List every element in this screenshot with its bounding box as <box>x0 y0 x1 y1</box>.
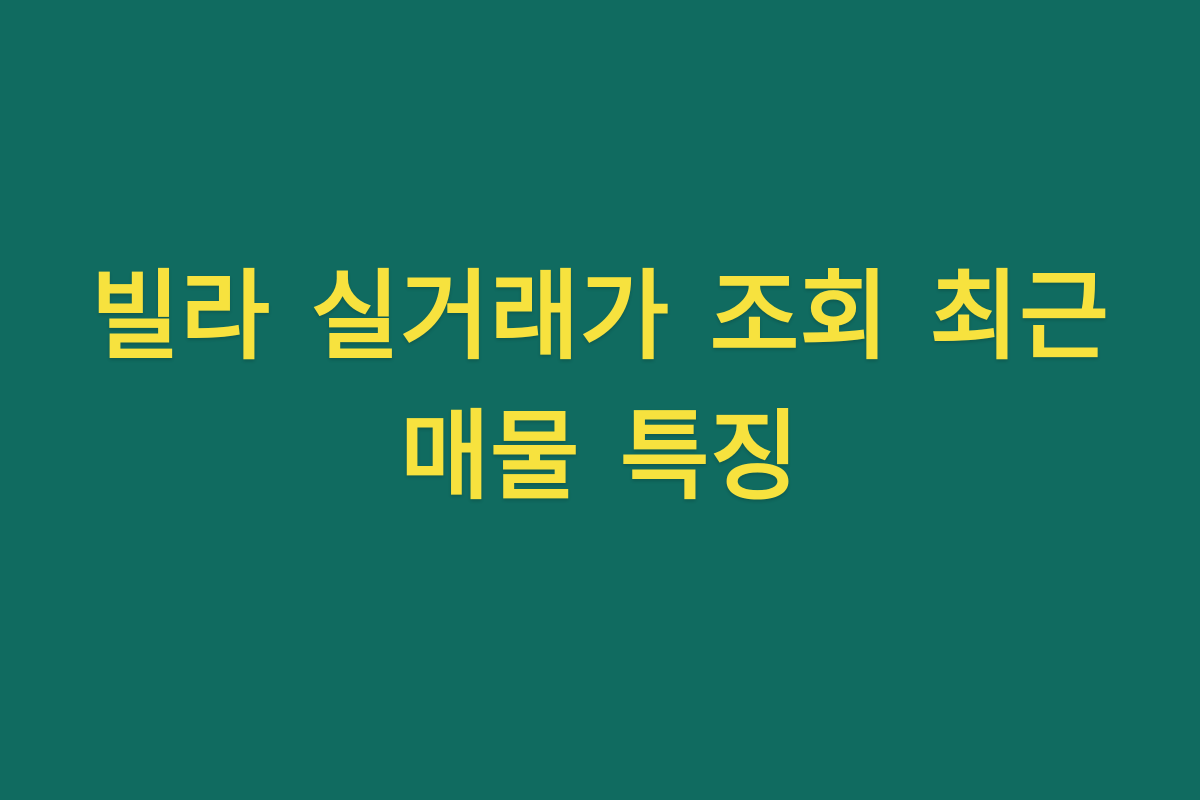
title-line-2: 매물 특징 <box>50 387 1150 527</box>
thumbnail-canvas: 빌라 실거래가 조회 최근 매물 특징 <box>0 0 1200 800</box>
title-line-1: 빌라 실거래가 조회 최근 <box>50 247 1150 387</box>
title-block: 빌라 실거래가 조회 최근 매물 특징 <box>50 247 1150 527</box>
